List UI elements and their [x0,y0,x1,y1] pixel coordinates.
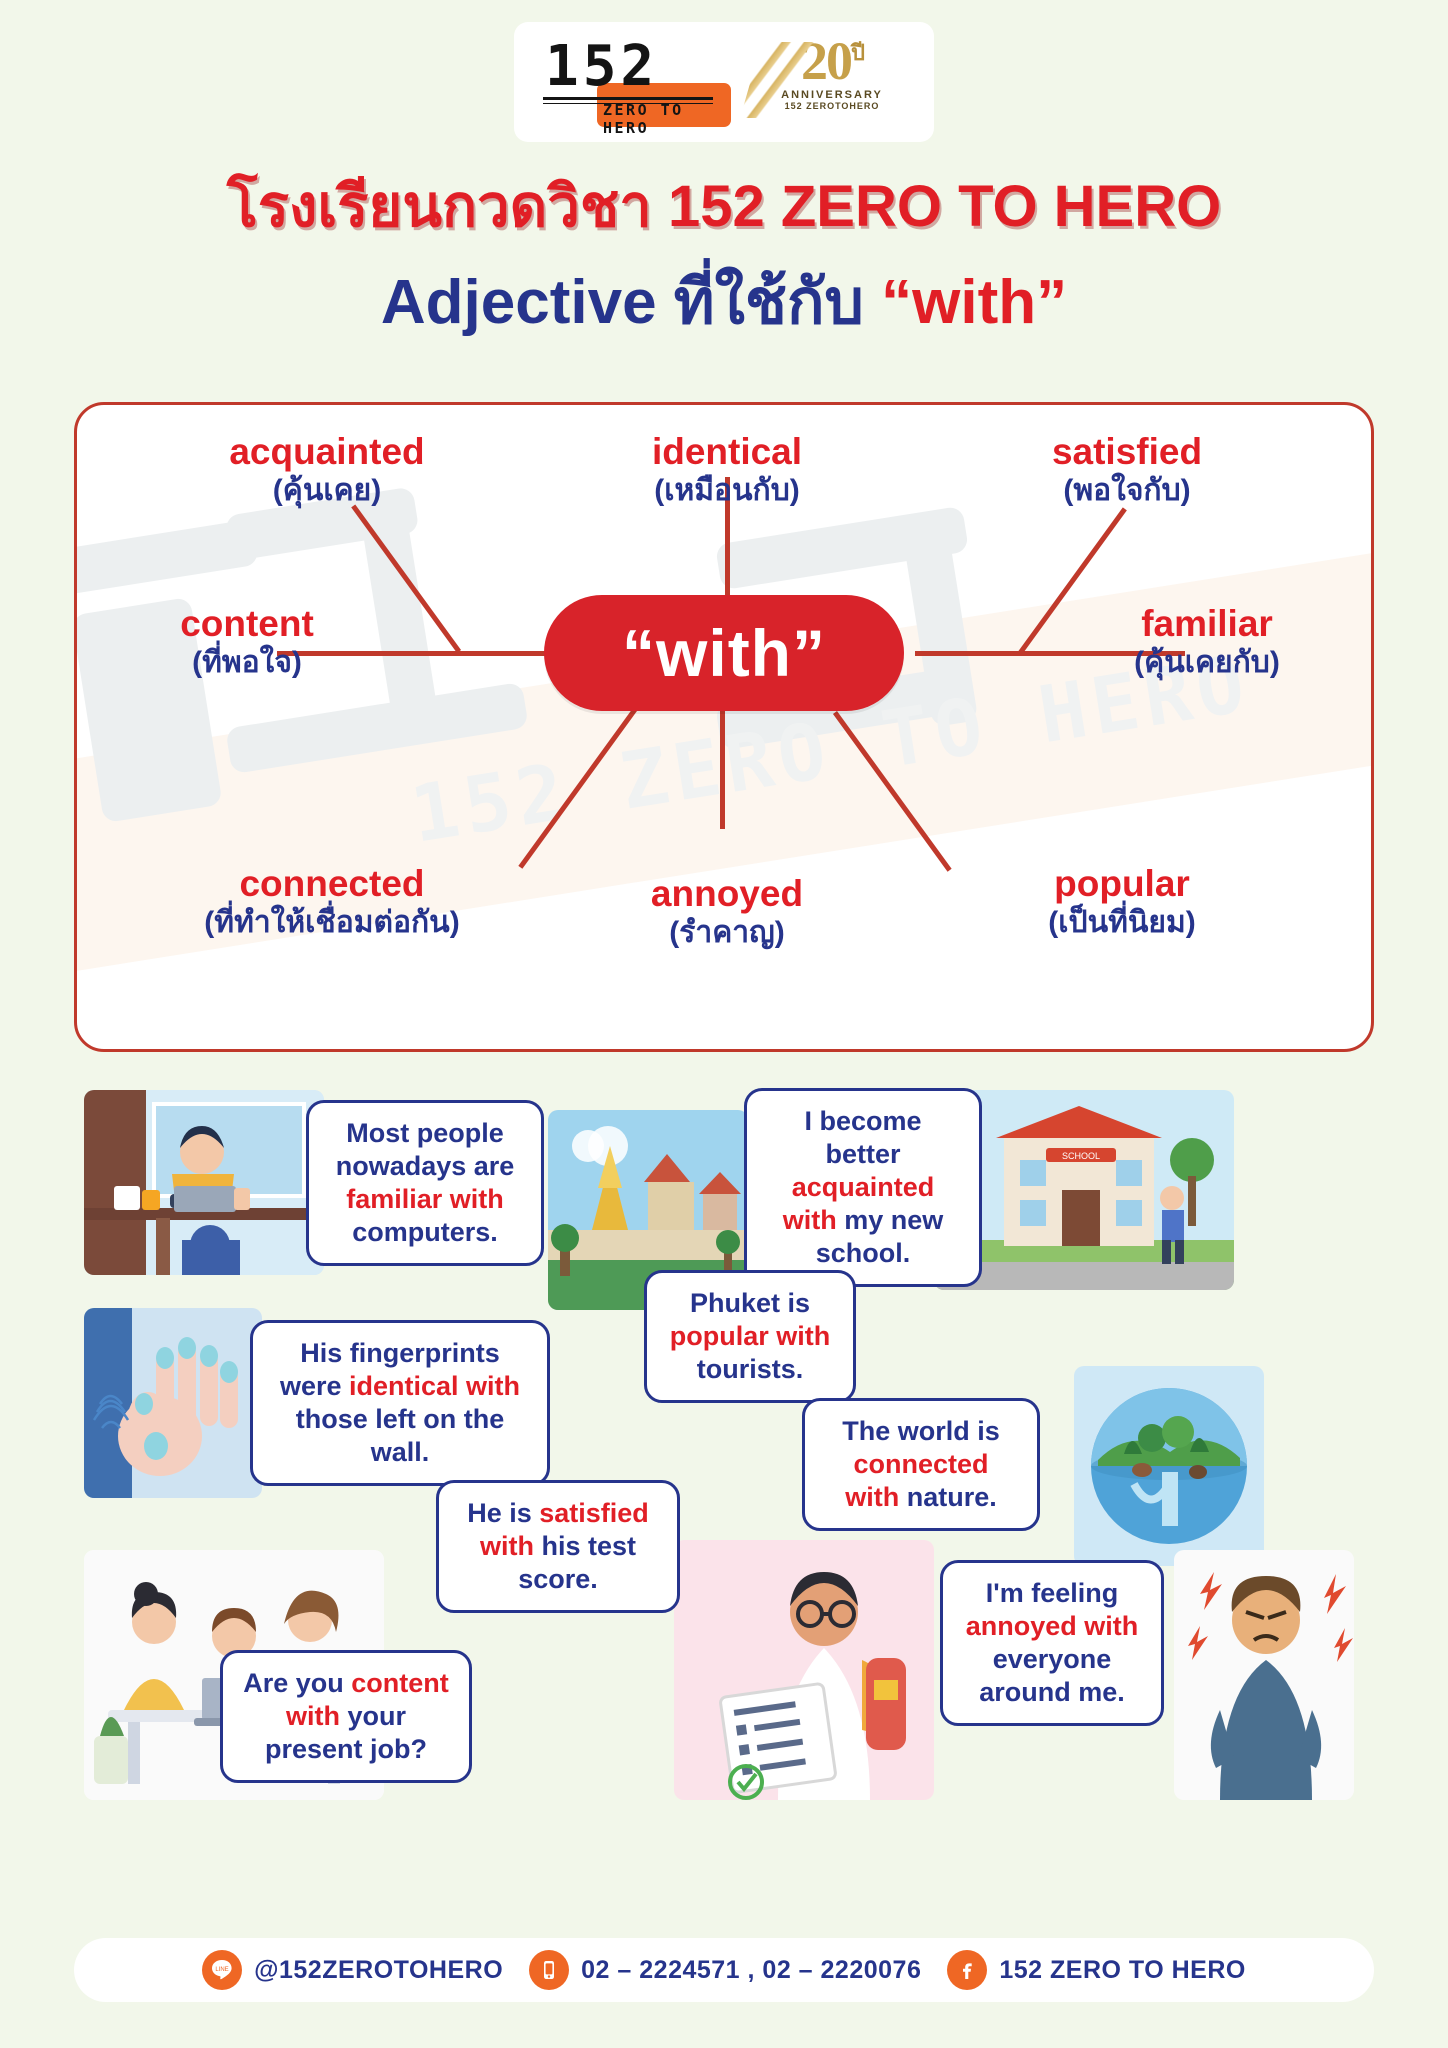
footer-line-item[interactable]: LINE @152ZEROTOHERO [202,1950,503,1990]
node-en: popular [957,865,1287,904]
node-en: familiar [1057,605,1357,644]
mindmap-node-annoyed[interactable]: annoyed (รำคาญ) [577,875,877,948]
mindmap-node-identical[interactable]: identical (เหมือนกับ) [567,433,887,506]
mindmap-node-satisfied[interactable]: satisfied (พอใจกับ) [967,433,1287,506]
spoke-annoyed [720,711,725,829]
brand-logo-bar: 152 ZERO TO HERO 20ปี ANNIVERSARY 152 ZE… [514,22,934,142]
example-text-pre: He is [467,1498,539,1528]
anniversary-pi: ปี [851,40,863,65]
svg-text:LINE: LINE [215,1967,228,1973]
node-th: (พอใจกับ) [967,475,1287,507]
node-en: content [97,605,397,644]
illustration-angry-man [1174,1550,1354,1800]
logo-tagline: ZERO TO HERO [603,101,731,137]
illustration-earth-nature [1074,1366,1264,1566]
node-th: (เป็นที่นิยม) [957,907,1287,939]
logo-rule-thick [543,97,713,100]
example-text-highlight: annoyed with [966,1611,1139,1641]
example-bubble-popular[interactable]: Phuket is popular with tourists. [644,1270,856,1403]
node-en: connected [137,865,527,904]
illustration-hand-fingerprint [84,1308,262,1498]
example-text-pre: I become better [804,1106,921,1169]
illustration-student-test [674,1540,934,1800]
hub-label: “with” [622,615,826,691]
facebook-icon [947,1950,987,1990]
example-text-post: nature. [899,1482,997,1512]
node-en: annoyed [577,875,877,914]
mindmap-node-connected[interactable]: connected (ที่ทำให้เชื่อมต่อกัน) [137,865,527,938]
example-bubble-satisfied[interactable]: He is satisfied with his test score. [436,1480,680,1613]
page-subtitle: Adjective ที่ใช้กับ “with” [0,272,1448,334]
example-bubble-acquainted[interactable]: I become better acquainted with my new s… [744,1088,982,1287]
node-th: (ที่พอใจ) [97,647,397,679]
example-text-post: those left on the wall. [296,1404,505,1467]
footer-facebook-item[interactable]: 152 ZERO TO HERO [947,1950,1246,1990]
example-text-pre: The world is [842,1416,1000,1446]
example-text-pre: Phuket is [690,1288,810,1318]
node-en: acquainted [167,433,487,472]
node-th: (ที่ทำให้เชื่อมต่อกัน) [137,907,527,939]
footer-line-label: @152ZEROTOHERO [254,1956,503,1985]
spoke-connected [518,708,637,869]
footer-contact-bar: LINE @152ZEROTOHERO 02 – 2224571 , 02 – … [74,1938,1374,2002]
example-bubble-content[interactable]: Are you content with your present job? [220,1650,472,1783]
mindmap-node-familiar[interactable]: familiar (คุ้นเคยกับ) [1057,605,1357,678]
example-text-pre: Most people nowadays are [336,1118,515,1181]
mindmap-node-content[interactable]: content (ที่พอใจ) [97,605,397,678]
phone-icon [529,1950,569,1990]
node-th: (คุ้นเคย) [167,475,487,507]
node-th: (เหมือนกับ) [567,475,887,507]
footer-phone-label: 02 – 2224571 , 02 – 2220076 [581,1956,921,1985]
example-text-highlight: identical with [349,1371,520,1401]
example-text-highlight: familiar with [346,1184,504,1214]
svg-text:SCHOOL: SCHOOL [1062,1151,1100,1161]
footer-phone-item[interactable]: 02 – 2224571 , 02 – 2220076 [529,1950,921,1990]
node-en: identical [567,433,887,472]
example-text-highlight: popular with [670,1321,830,1351]
spoke-popular [833,711,952,872]
mindmap-hub: “with” [544,595,904,711]
example-bubble-connected[interactable]: The world is connected with nature. [802,1398,1040,1531]
example-text-post: tourists. [697,1354,804,1384]
page-title: โรงเรียนกวดวิชา 152 ZERO TO HERO [0,178,1448,236]
subtitle-keyword: “with” [881,268,1067,337]
node-th: (รำคาญ) [577,917,877,949]
mindmap-card: 152 ZERO TO HERO “with” acquainted (คุ้น… [74,402,1374,1052]
example-text-pre: Are you [243,1668,351,1698]
example-text-post: everyone around me. [979,1644,1125,1707]
mindmap-node-acquainted[interactable]: acquainted (คุ้นเคย) [167,433,487,506]
example-text-post: computers. [352,1217,498,1247]
example-bubble-identical[interactable]: His fingerprints were identical with tho… [250,1320,550,1486]
examples-section: Most people nowadays are familiar with c… [74,1080,1374,1920]
logo-20th-anniversary: 20ปี ANNIVERSARY 152 ZEROTOHERO [757,36,907,128]
mindmap-node-popular[interactable]: popular (เป็นที่นิยม) [957,865,1287,938]
footer-facebook-label: 152 ZERO TO HERO [999,1956,1246,1985]
example-bubble-annoyed[interactable]: I'm feeling annoyed with everyone around… [940,1560,1164,1726]
node-th: (คุ้นเคยกับ) [1057,647,1357,679]
logo-152: 152 ZERO TO HERO [541,39,731,125]
example-text-pre: I'm feeling [986,1578,1118,1608]
node-en: satisfied [967,433,1287,472]
subtitle-thai: ที่ใช้กับ [674,268,864,337]
subtitle-prefix: Adjective [381,268,657,337]
line-icon: LINE [202,1950,242,1990]
illustration-person-at-laptop [84,1090,324,1275]
logo-number: 152 [541,39,731,95]
example-text-post: his test score. [518,1531,636,1594]
example-bubble-familiar[interactable]: Most people nowadays are familiar with c… [306,1100,544,1266]
